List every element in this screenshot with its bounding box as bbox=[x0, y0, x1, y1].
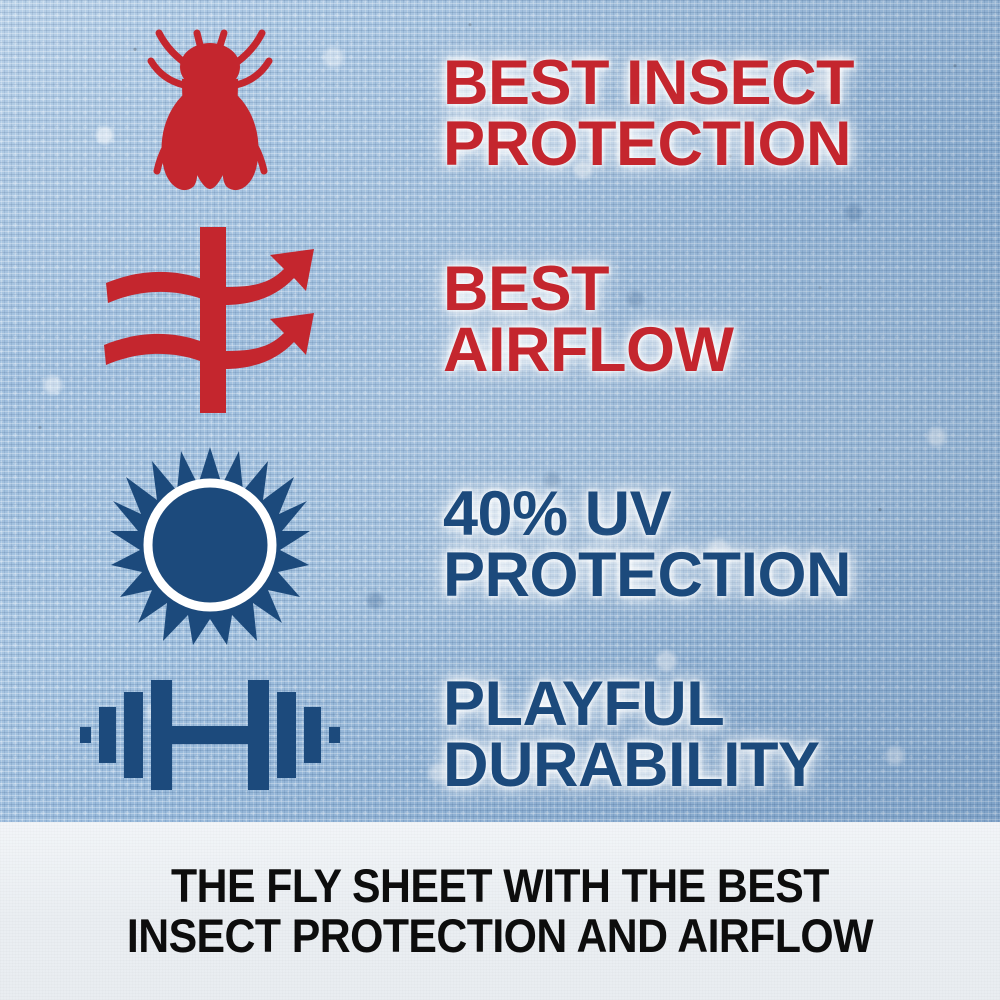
product-feature-infographic: BEST INSECT PROTECTION bbox=[0, 0, 1000, 1000]
airflow-arrows-icon bbox=[100, 225, 320, 415]
icon-cell-insect-protection bbox=[0, 19, 420, 209]
feature-label-durability: PLAYFUL DURABILITY bbox=[443, 674, 1000, 796]
caption-headline: THE FLY SHEET WITH THE BEST INSECT PROTE… bbox=[114, 861, 886, 962]
icon-cell-airflow bbox=[0, 225, 420, 415]
text-cell-uv-protection: 40% UV PROTECTION bbox=[420, 484, 1000, 606]
sun-burst-icon bbox=[110, 445, 310, 645]
feature-label-airflow: BEST AIRFLOW bbox=[443, 259, 1000, 381]
feature-row-insect-protection: BEST INSECT PROTECTION bbox=[0, 18, 1000, 210]
feature-label-insect-protection: BEST INSECT PROTECTION bbox=[443, 53, 1000, 175]
feature-row-uv-protection: 40% UV PROTECTION bbox=[0, 440, 1000, 650]
icon-cell-uv-protection bbox=[0, 445, 420, 645]
barbell-icon bbox=[80, 670, 340, 800]
fly-icon bbox=[135, 19, 285, 209]
text-cell-insect-protection: BEST INSECT PROTECTION bbox=[420, 53, 1000, 175]
feature-label-uv-protection: 40% UV PROTECTION bbox=[443, 484, 1000, 606]
feature-list: BEST INSECT PROTECTION bbox=[0, 0, 1000, 822]
icon-cell-durability bbox=[0, 670, 420, 800]
feature-row-airflow: BEST AIRFLOW bbox=[0, 222, 1000, 418]
text-cell-airflow: BEST AIRFLOW bbox=[420, 259, 1000, 381]
caption-bar: THE FLY SHEET WITH THE BEST INSECT PROTE… bbox=[0, 822, 1000, 1000]
text-cell-durability: PLAYFUL DURABILITY bbox=[420, 674, 1000, 796]
feature-row-durability: PLAYFUL DURABILITY bbox=[0, 650, 1000, 820]
